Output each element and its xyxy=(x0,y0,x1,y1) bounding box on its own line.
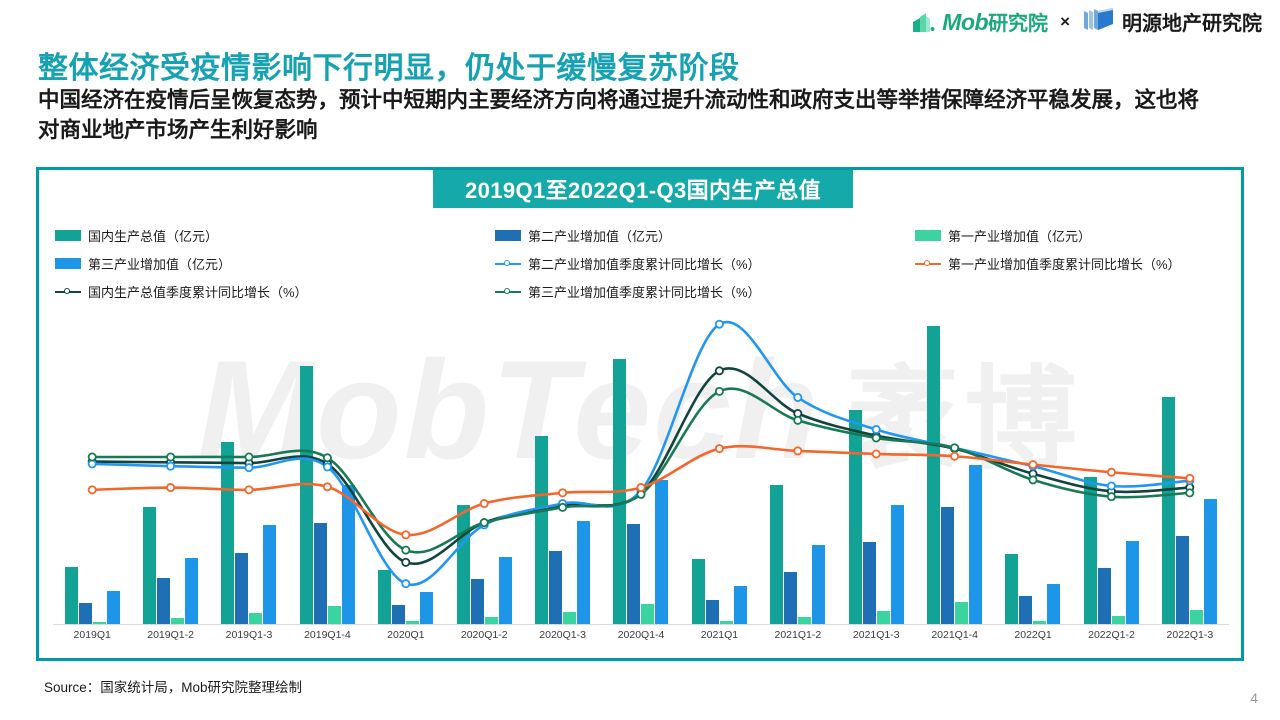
data-point-marker[interactable] xyxy=(1029,476,1036,483)
mingyuan-books-logo-icon xyxy=(1082,6,1116,37)
data-point-marker[interactable] xyxy=(1186,489,1193,496)
x-axis-label: 2022Q1 xyxy=(994,629,1072,651)
x-axis-label: 2021Q1-3 xyxy=(837,629,915,651)
data-point-marker[interactable] xyxy=(1029,461,1036,468)
legend-label: 第二产业增加值（亿元） xyxy=(528,226,671,245)
legend-label: 国内生产总值（亿元） xyxy=(88,226,218,245)
data-point-marker[interactable] xyxy=(481,519,488,526)
legend-swatch-line-circle xyxy=(495,286,521,297)
data-point-marker[interactable] xyxy=(324,454,331,461)
page-title: 整体经济受疫情影响下行明显，仍处于缓慢复苏阶段 xyxy=(38,43,1248,87)
x-axis-label: 2022Q1-3 xyxy=(1151,629,1229,651)
chart-plot-area xyxy=(53,302,1229,624)
brand-separator: × xyxy=(1058,12,1072,32)
line-layer xyxy=(53,302,1229,624)
chart-legend: 国内生产总值（亿元） 第二产业增加值（亿元） 第一产业增加值（亿元） 第三产业增… xyxy=(55,226,1231,310)
x-axis-label: 2020Q1-4 xyxy=(602,629,680,651)
x-axis-label: 2021Q1-4 xyxy=(915,629,993,651)
data-point-marker[interactable] xyxy=(245,453,252,460)
data-point-marker[interactable] xyxy=(873,450,880,457)
data-point-marker[interactable] xyxy=(794,394,801,401)
data-point-marker[interactable] xyxy=(245,486,252,493)
x-axis-label: 2020Q1-3 xyxy=(523,629,601,651)
x-axis-label: 2019Q1-3 xyxy=(210,629,288,651)
x-axis-label: 2019Q1-2 xyxy=(131,629,209,651)
legend-label: 第二产业增加值季度累计同比增长（%） xyxy=(528,254,761,273)
data-point-marker[interactable] xyxy=(559,504,566,511)
mob-building-logo-icon xyxy=(911,9,937,35)
x-axis-label: 2020Q1 xyxy=(367,629,445,651)
legend-item-primary-bar[interactable]: 第一产业增加值（亿元） xyxy=(915,226,1225,245)
x-axis-line xyxy=(53,624,1229,625)
legend-label: 第三产业增加值季度累计同比增长（%） xyxy=(528,282,761,301)
legend-swatch-line-circle xyxy=(55,286,81,297)
legend-label: 国内生产总值季度累计同比增长（%） xyxy=(88,282,308,301)
data-point-marker[interactable] xyxy=(873,426,880,433)
brand-logos: Mob研究院 × 明源地产研究院 xyxy=(911,6,1262,37)
data-point-marker[interactable] xyxy=(167,484,174,491)
data-point-marker[interactable] xyxy=(167,453,174,460)
legend-item-tertiary-bar[interactable]: 第三产业增加值（亿元） xyxy=(55,254,495,273)
x-axis-label: 2022Q1-2 xyxy=(1072,629,1150,651)
source-note: Source：国家统计局，Mob研究院整理绘制 xyxy=(44,676,302,696)
data-point-marker[interactable] xyxy=(1108,469,1115,476)
data-point-marker[interactable] xyxy=(402,559,409,566)
data-point-marker[interactable] xyxy=(559,489,566,496)
legend-item-secondary-bar[interactable]: 第二产业增加值（亿元） xyxy=(495,226,915,245)
data-point-marker[interactable] xyxy=(402,547,409,554)
partner-logo-text: 明源地产研究院 xyxy=(1122,7,1262,36)
legend-item-tertiary-line[interactable]: 第三产业增加值季度累计同比增长（%） xyxy=(495,282,915,301)
page-number: 4 xyxy=(1250,690,1258,706)
data-point-marker[interactable] xyxy=(324,483,331,490)
data-point-marker[interactable] xyxy=(794,417,801,424)
legend-label: 第三产业增加值（亿元） xyxy=(88,254,231,273)
legend-item-secondary-line[interactable]: 第二产业增加值季度累计同比增长（%） xyxy=(495,254,915,273)
data-point-marker[interactable] xyxy=(1108,493,1115,500)
legend-item-gdp-bar[interactable]: 国内生产总值（亿元） xyxy=(55,226,495,245)
legend-swatch-square xyxy=(55,258,81,269)
legend-swatch-square xyxy=(495,230,521,241)
chart-title: 2019Q1至2022Q1-Q3国内生产总值 xyxy=(433,170,853,208)
data-point-marker[interactable] xyxy=(402,580,409,587)
data-point-marker[interactable] xyxy=(1186,475,1193,482)
trend-line[interactable] xyxy=(92,322,1190,585)
x-axis-label: 2021Q1-2 xyxy=(759,629,837,651)
partner-logo: 明源地产研究院 xyxy=(1082,6,1262,37)
legend-swatch-square xyxy=(55,230,81,241)
data-point-marker[interactable] xyxy=(951,453,958,460)
legend-label: 第一产业增加值（亿元） xyxy=(948,226,1091,245)
x-axis-label: 2020Q1-2 xyxy=(445,629,523,651)
mob-logo-text: Mob研究院 xyxy=(942,7,1048,36)
data-point-marker[interactable] xyxy=(89,486,96,493)
data-point-marker[interactable] xyxy=(794,447,801,454)
legend-swatch-square xyxy=(915,230,941,241)
data-point-marker[interactable] xyxy=(716,445,723,452)
brand-bar: Mob研究院 × 明源地产研究院 xyxy=(0,0,1280,46)
data-point-marker[interactable] xyxy=(716,388,723,395)
data-point-marker[interactable] xyxy=(245,464,252,471)
legend-label: 第一产业增加值季度累计同比增长（%） xyxy=(948,254,1181,273)
legend-swatch-line-circle xyxy=(495,258,521,269)
legend-item-primary-line[interactable]: 第一产业增加值季度累计同比增长（%） xyxy=(915,254,1225,273)
data-point-marker[interactable] xyxy=(402,531,409,538)
data-point-marker[interactable] xyxy=(716,367,723,374)
data-point-marker[interactable] xyxy=(324,463,331,470)
legend-swatch-line-circle xyxy=(915,258,941,269)
chart-card: MobTech袤博 2019Q1至2022Q1-Q3国内生产总值 国内生产总值（… xyxy=(36,167,1244,661)
data-point-marker[interactable] xyxy=(716,321,723,328)
data-point-marker[interactable] xyxy=(951,444,958,451)
x-axis-label: 2019Q1-4 xyxy=(288,629,366,651)
data-point-marker[interactable] xyxy=(89,453,96,460)
data-point-marker[interactable] xyxy=(167,463,174,470)
x-axis-labels: 2019Q12019Q1-22019Q1-32019Q1-42020Q12020… xyxy=(53,629,1229,651)
mob-logo: Mob研究院 xyxy=(911,7,1048,36)
legend-item-gdp-line[interactable]: 国内生产总值季度累计同比增长（%） xyxy=(55,282,495,301)
data-point-marker[interactable] xyxy=(481,500,488,507)
x-axis-label: 2021Q1 xyxy=(680,629,758,651)
data-point-marker[interactable] xyxy=(637,484,644,491)
x-axis-label: 2019Q1 xyxy=(53,629,131,651)
page-subtitle: 中国经济在疫情后呈恢复态势，预计中短期内主要经济方向将通过提升流动性和政府支出等… xyxy=(38,86,1218,145)
data-point-marker[interactable] xyxy=(1108,482,1115,489)
data-point-marker[interactable] xyxy=(873,434,880,441)
